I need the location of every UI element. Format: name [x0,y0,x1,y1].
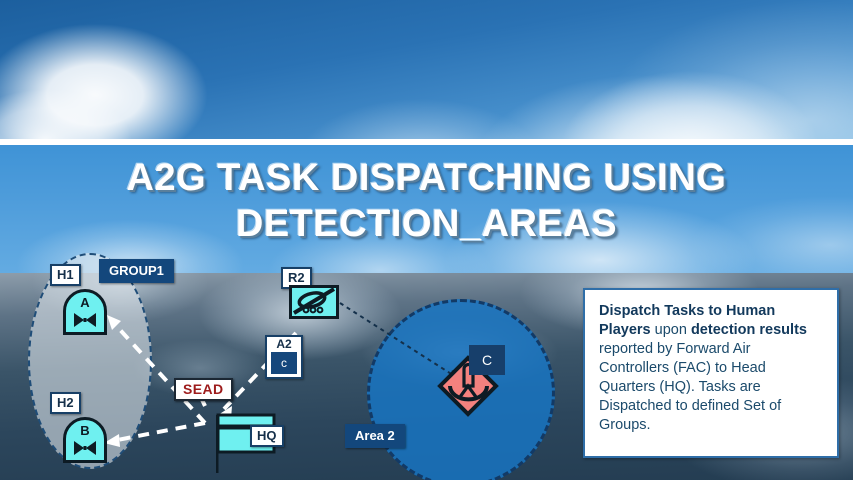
aircraft-id-b: B [66,423,104,438]
info-panel: Dispatch Tasks to Human Players upon det… [583,288,839,458]
aircraft-symbol-a[interactable]: A [63,289,107,335]
unit-label-hq[interactable]: HQ [250,425,284,447]
group1-badge[interactable]: GROUP1 [99,259,174,283]
arrow-hq-to-h2 [104,423,205,447]
detection-label-a2-title: A2 [271,338,297,351]
unit-label-h1[interactable]: H1 [50,264,81,286]
aircraft-id-a: A [66,295,104,310]
slide-canvas: A2G TASK DISPATCHING USING DETECTION_ARE… [0,0,853,480]
sky-background-top [0,0,853,139]
detection-label-a2[interactable]: A2 c [265,335,303,379]
area2-badge[interactable]: Area 2 [345,424,405,448]
arrow-hq-to-h1 [107,315,205,423]
reconnaissance-icon [292,288,336,316]
fixed-wing-bowtie-icon [73,440,97,456]
detection-target-chip-c: C [469,345,505,375]
info-mid-1: upon [651,322,691,338]
unit-label-h2[interactable]: H2 [50,392,81,414]
aircraft-symbol-b[interactable]: B [63,417,107,463]
fixed-wing-bowtie-icon [73,312,97,328]
info-rest: reported by Forward Air Controllers (FAC… [599,341,781,433]
detection-label-a2-chip: c [271,352,297,374]
info-bold-2: detection results [691,322,807,338]
sky-background-title-band [0,145,853,273]
recon-aircraft-symbol-r2[interactable] [289,285,339,319]
task-label-sead[interactable]: SEAD [174,378,233,401]
